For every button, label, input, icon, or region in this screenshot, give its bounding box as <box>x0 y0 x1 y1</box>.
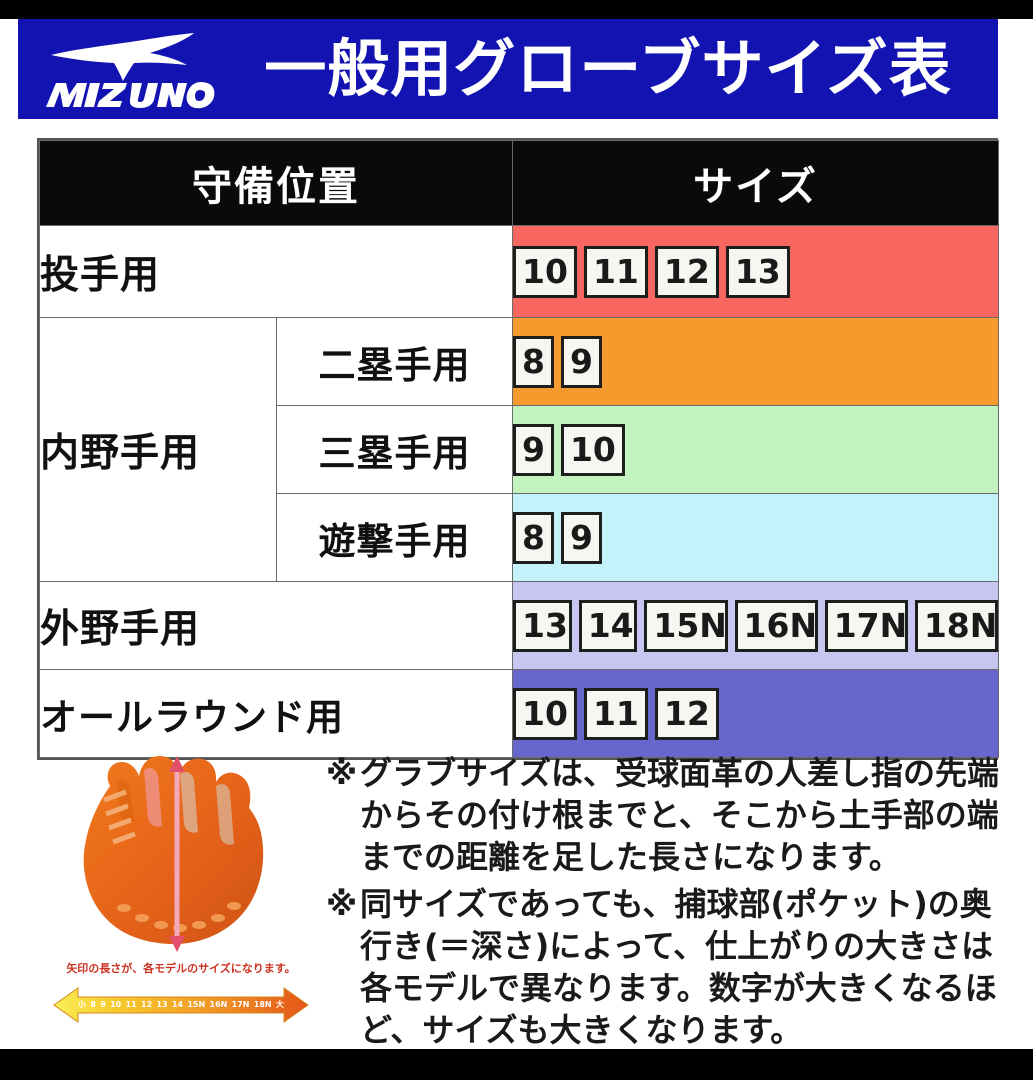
note-text: グラブサイズは、受球面革の人差し指の先端からその付け根までと、そこから土手部の端… <box>360 754 999 876</box>
top-letterbox-bar <box>0 0 1033 19</box>
size-cell-second-base: 89 <box>513 318 999 406</box>
size-badge: 18N <box>915 600 998 652</box>
size-badge: 8 <box>513 336 554 388</box>
size-cell-allround: 101112 <box>513 670 999 758</box>
table-row: 内野手用 二塁手用 89 <box>40 318 999 406</box>
size-cell-shortstop: 89 <box>513 494 999 582</box>
position-label-infielder: 内野手用 <box>40 318 277 582</box>
size-badge: 14 <box>579 600 638 652</box>
table-row: オールラウンド用 101112 <box>40 670 999 758</box>
size-badge: 8 <box>513 512 554 564</box>
glove-caption: 矢印の長さが、各モデルのサイズになります。 <box>52 960 310 976</box>
glove-photo <box>64 752 296 957</box>
glove-illustration-block: 矢印の長さが、各モデルのサイズになります。 小89101112131415N16… <box>52 752 310 1042</box>
size-badge: 15N <box>644 600 727 652</box>
note-mark: ※ <box>326 883 357 925</box>
note-mark: ※ <box>326 752 357 794</box>
mizuno-runbird-icon <box>46 33 211 81</box>
size-badge: 9 <box>561 512 602 564</box>
size-cell-pitcher: 10111213 <box>513 226 999 318</box>
position-label-allround: オールラウンド用 <box>40 670 513 758</box>
table-row: 外野手用 131415N16N17N18N <box>40 582 999 670</box>
size-badge: 12 <box>655 688 719 740</box>
size-badge: 16N <box>735 600 818 652</box>
position-label-pitcher: 投手用 <box>40 226 513 318</box>
size-badge-group: 89 <box>513 512 998 564</box>
sub-position-label-shortstop: 遊撃手用 <box>277 494 513 582</box>
size-badge-group: 131415N16N17N18N <box>513 600 998 652</box>
size-badge: 13 <box>726 246 790 298</box>
glove-size-table: 守備位置 サイズ 投手用 10111213 内野手用 二塁手用 89 三塁手 <box>37 138 998 760</box>
sub-position-label-third-base: 三塁手用 <box>277 406 513 494</box>
size-badge-group: 10111213 <box>513 246 998 298</box>
size-badge-group: 89 <box>513 336 998 388</box>
size-badge: 12 <box>655 246 719 298</box>
size-badge: 13 <box>513 600 572 652</box>
position-label-outfielder: 外野手用 <box>40 582 513 670</box>
size-badge: 9 <box>561 336 602 388</box>
size-badge: 10 <box>513 246 577 298</box>
size-badge-group: 101112 <box>513 688 998 740</box>
size-badge: 9 <box>513 424 554 476</box>
size-badge: 10 <box>513 688 577 740</box>
table-header-row: 守備位置 サイズ <box>40 141 999 226</box>
column-header-position: 守備位置 <box>40 141 513 226</box>
notes-section: ※ グラブサイズは、受球面革の人差し指の先端からその付け根までと、そこから土手部… <box>326 752 1006 1056</box>
size-badge-group: 910 <box>513 424 998 476</box>
size-cell-outfielder: 131415N16N17N18N <box>513 582 999 670</box>
page-title: 一般用グローブサイズ表 <box>228 38 998 100</box>
mizuno-logo <box>38 19 228 119</box>
size-cell-third-base: 910 <box>513 406 999 494</box>
note-text: 同サイズであっても、捕球部(ポケット)の奥行き(＝深さ)によって、仕上がりの大き… <box>360 885 997 1050</box>
size-badge: 11 <box>584 246 648 298</box>
size-badge: 17N <box>825 600 908 652</box>
note-item: ※ 同サイズであっても、捕球部(ポケット)の奥行き(＝深さ)によって、仕上がりの… <box>326 883 1006 1052</box>
table-row: 投手用 10111213 <box>40 226 999 318</box>
bottom-letterbox-bar <box>0 1049 1033 1080</box>
size-scale-arrow-icon <box>52 984 310 1026</box>
mizuno-wordmark-icon <box>44 77 216 109</box>
size-badge: 10 <box>561 424 625 476</box>
sub-position-label-second-base: 二塁手用 <box>277 318 513 406</box>
note-item: ※ グラブサイズは、受球面革の人差し指の先端からその付け根までと、そこから土手部… <box>326 752 1006 879</box>
size-badge: 11 <box>584 688 648 740</box>
column-header-size: サイズ <box>513 141 999 226</box>
header-banner: 一般用グローブサイズ表 <box>18 19 998 119</box>
